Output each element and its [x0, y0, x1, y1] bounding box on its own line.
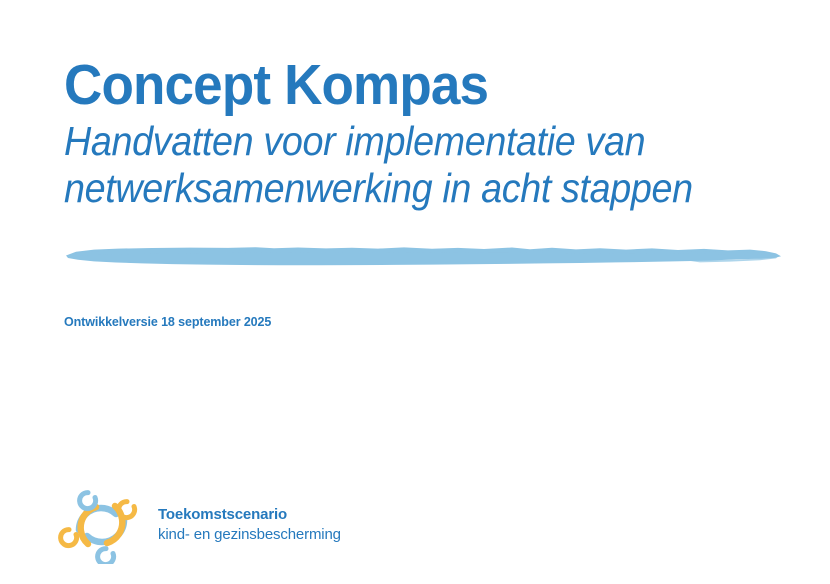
logo-wordmark: Toekomstscenario kind- en gezinsbescherm…: [158, 503, 341, 546]
logo-organisation-name: Toekomstscenario: [158, 505, 341, 525]
subtitle-line-2: netwerksamenwerking in acht stappen: [64, 165, 726, 212]
cover-page: Concept Kompas Handvatten voor implement…: [0, 0, 830, 584]
version-note: Ontwikkelversie 18 september 2025: [64, 315, 271, 329]
page-subtitle: Handvatten voor implementatie van netwer…: [64, 118, 726, 212]
subtitle-line-1: Handvatten voor implementatie van: [64, 118, 726, 165]
title-block: Concept Kompas Handvatten voor implement…: [64, 56, 784, 212]
logo-tagline: kind- en gezinsbescherming: [158, 525, 341, 545]
brush-stroke-divider: [60, 236, 782, 276]
page-title: Concept Kompas: [64, 56, 734, 114]
organisation-logo: Toekomstscenario kind- en gezinsbescherm…: [58, 484, 341, 564]
pinwheel-logo-icon: [58, 484, 146, 564]
